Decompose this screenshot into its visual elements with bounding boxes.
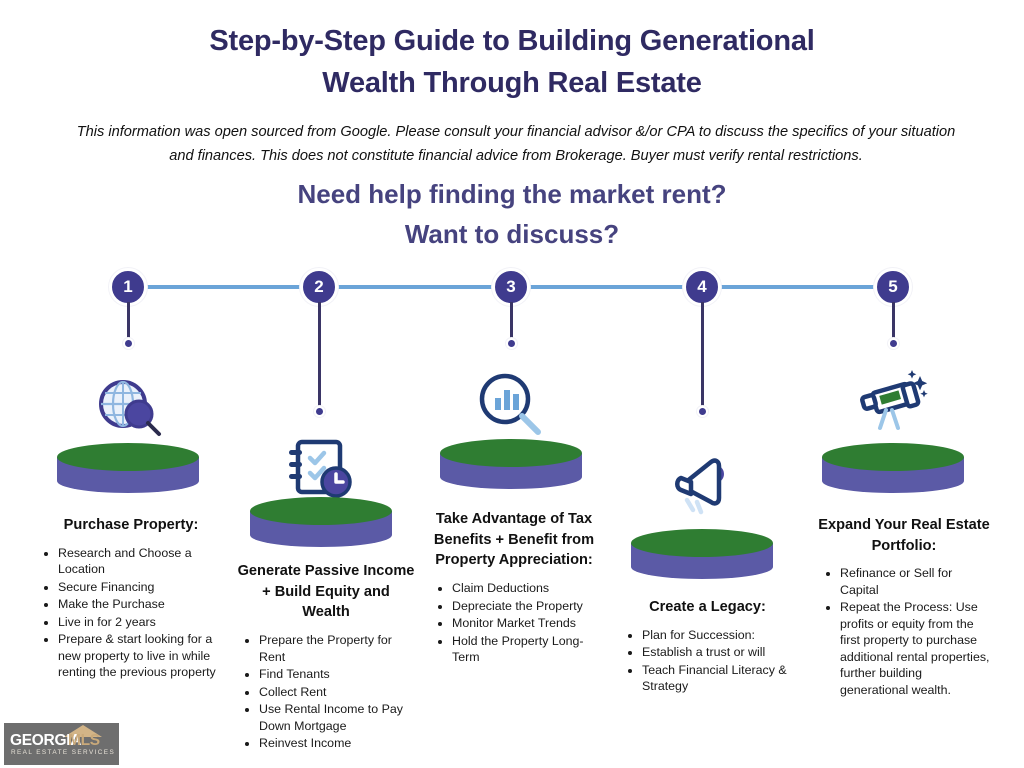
list-item: Hold the Property Long-Term [452,633,598,666]
platform-1 [57,443,199,487]
step-heading-5: Expand Your Real Estate Portfolio: [818,515,990,556]
list-item: Use Rental Income to Pay Down Mortgage [259,701,415,734]
step-bullets-4: Plan for Succession: Establish a trust o… [620,627,795,695]
step-block-1: Purchase Property: Research and Choose a… [36,515,226,682]
step-connector-dot-1 [123,338,134,349]
page-title-line-1: Step-by-Step Guide to Building Generatio… [0,20,1024,62]
logo-tagline: REAL ESTATE SERVICES [11,749,115,756]
list-item: Prepare the Property for Rent [259,632,415,665]
list-item: Live in for 2 years [58,614,226,631]
page-title: Step-by-Step Guide to Building Generatio… [0,20,1024,104]
list-item: Monitor Market Trends [452,615,598,632]
list-item: Depreciate the Property [452,598,598,615]
georgia-mls-logo: GEORGIA MLS REAL ESTATE SERVICES [4,723,119,765]
list-item: Plan for Succession: [642,627,795,644]
subheading-line-1: Need help finding the market rent? [0,174,1024,214]
step-node-3[interactable]: 3 [492,268,530,306]
step-heading-1: Purchase Property: [36,515,226,536]
step-block-4: Create a Legacy: Plan for Succession: Es… [620,597,795,696]
list-item: Collect Rent [259,684,415,701]
logo-mls-text: MLS [68,732,100,750]
step-block-3: Take Advantage of Tax Benefits + Benefit… [430,509,598,667]
step-block-5: Expand Your Real Estate Portfolio: Refin… [818,515,990,699]
platform-5-top [822,443,964,471]
step-node-5[interactable]: 5 [874,268,912,306]
platform-2 [250,497,392,541]
list-item: Teach Financial Literacy & Strategy [642,662,795,695]
list-item: Claim Deductions [452,580,598,597]
list-item: Establish a trust or will [642,644,795,661]
step-connector-dot-4 [697,406,708,417]
platform-3-top [440,439,582,467]
list-item: Secure Financing [58,579,226,596]
platform-1-top [57,443,199,471]
platform-2-top [250,497,392,525]
step-heading-3: Take Advantage of Tax Benefits + Benefit… [430,509,598,571]
step-node-1[interactable]: 1 [109,268,147,306]
step-bullets-2: Prepare the Property for Rent Find Tenan… [237,632,415,752]
page-title-line-2: Wealth Through Real Estate [0,62,1024,104]
list-item: Prepare & start looking for a new proper… [58,631,226,681]
list-item: Reinvest Income [259,735,415,752]
platform-5 [822,443,964,487]
chart-magnifier-icon [468,368,554,444]
globe-search-icon [87,372,173,448]
subheading-line-2: Want to discuss? [0,214,1024,254]
list-item: Repeat the Process: Use profits or equit… [840,599,990,698]
step-connector-4 [701,302,704,412]
step-heading-2: Generate Passive Income + Build Equity a… [237,561,415,623]
step-bullets-5: Refinance or Sell for Capital Repeat the… [818,565,990,698]
step-connector-dot-3 [506,338,517,349]
list-item: Refinance or Sell for Capital [840,565,990,598]
step-bullets-3: Claim Deductions Depreciate the Property… [430,580,598,666]
disclaimer-line-1: This information was open sourced from G… [77,124,865,140]
step-connector-dot-5 [888,338,899,349]
step-node-2[interactable]: 2 [300,268,338,306]
telescope-icon [850,366,936,442]
list-item: Find Tenants [259,666,415,683]
platform-3 [440,439,582,483]
step-connector-dot-2 [314,406,325,417]
step-connector-2 [318,302,321,412]
platform-4-top [631,529,773,557]
step-heading-4: Create a Legacy: [620,597,795,618]
step-node-4[interactable]: 4 [683,268,721,306]
disclaimer-text: This information was open sourced from G… [68,120,964,168]
list-item: Research and Choose a Location [58,545,226,578]
step-bullets-1: Research and Choose a Location Secure Fi… [36,545,226,681]
list-item: Make the Purchase [58,596,226,613]
step-block-2: Generate Passive Income + Build Equity a… [237,561,415,753]
subheading: Need help finding the market rent? Want … [0,174,1024,255]
megaphone-icon [659,448,745,524]
platform-4 [631,529,773,573]
